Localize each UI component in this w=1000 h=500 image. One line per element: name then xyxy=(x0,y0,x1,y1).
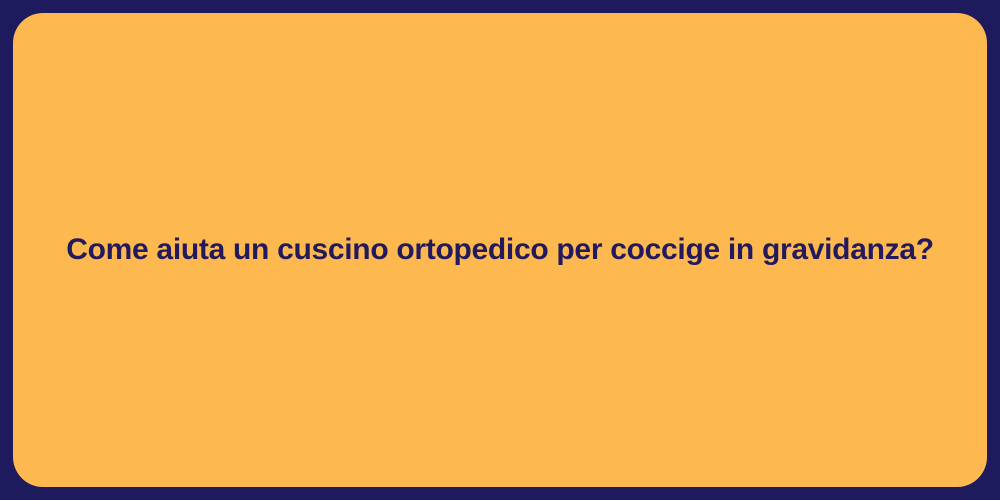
question-card: Come aiuta un cuscino ortopedico per coc… xyxy=(13,13,987,487)
question-title: Come aiuta un cuscino ortopedico per coc… xyxy=(66,231,933,269)
outer-frame: Come aiuta un cuscino ortopedico per coc… xyxy=(0,0,1000,500)
